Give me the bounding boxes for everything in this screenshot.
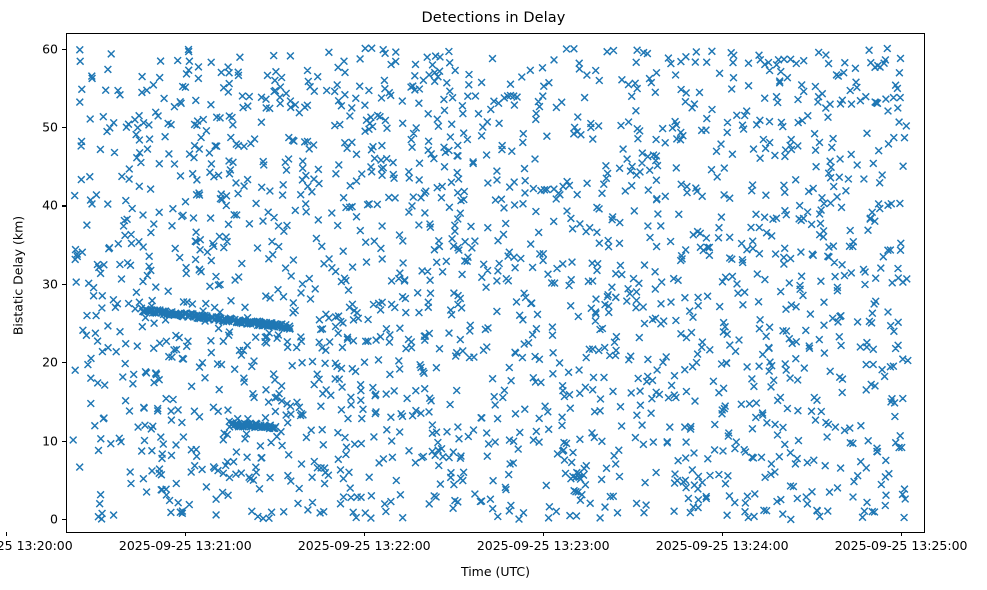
x-tick-mark — [364, 532, 365, 536]
scatter-series — [67, 34, 925, 533]
y-tick-label: 30 — [14, 276, 58, 291]
y-tick-label: 10 — [14, 433, 58, 448]
y-tick-label: 60 — [14, 41, 58, 56]
y-tick-label: 40 — [14, 198, 58, 213]
page-title: Detections in Delay — [0, 10, 987, 26]
x-tick-mark — [722, 532, 723, 536]
y-tick-label: 20 — [14, 355, 58, 370]
plot-area[interactable] — [66, 33, 925, 533]
x-tick-mark — [6, 532, 7, 536]
x-axis-label: Time (UTC) — [66, 564, 925, 579]
y-axis-tick-labels: 0102030405060 — [0, 0, 58, 590]
y-tick-label: 50 — [14, 120, 58, 135]
matplotlib-figure: Detections in Delay Bistatic Delay (km) … — [0, 0, 987, 590]
scatter-markers — [70, 45, 911, 523]
y-tick-label: 0 — [14, 511, 58, 526]
x-tick-mark — [543, 532, 544, 536]
x-tick-mark — [185, 532, 186, 536]
x-tick-label: 2025-09-25 13:25:00 — [791, 538, 987, 553]
x-tick-mark — [901, 532, 902, 536]
